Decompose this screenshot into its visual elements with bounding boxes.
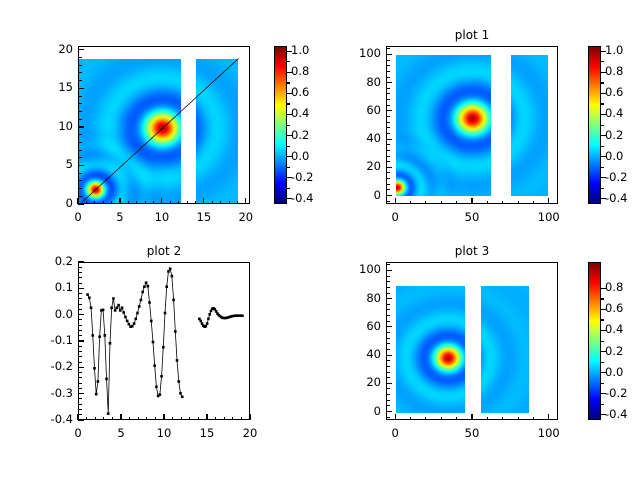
x-tick-label: 20 — [222, 210, 270, 224]
y-tick — [78, 49, 84, 50]
colorbar-minor-tick — [287, 103, 290, 104]
data-point-marker — [102, 309, 105, 312]
x-minor-tick — [155, 417, 156, 421]
data-point-marker — [134, 318, 137, 321]
data-point-marker — [86, 293, 89, 296]
colorbar-tick-label: 0.2 — [291, 128, 309, 142]
y-minor-tick — [386, 405, 390, 406]
data-point-marker — [141, 291, 144, 294]
y-tick-label: 0.2 — [13, 254, 73, 268]
y-minor-tick — [78, 335, 82, 336]
x-minor-tick — [487, 201, 488, 205]
x-minor-tick — [103, 417, 104, 421]
data-point-marker — [205, 325, 208, 328]
y-minor-tick — [386, 99, 390, 100]
data-point-marker — [208, 313, 211, 316]
y-tick-label: 40 — [321, 131, 381, 145]
x-minor-tick — [112, 417, 113, 421]
colorbar-minor-tick — [601, 146, 604, 147]
y-minor-tick — [386, 105, 390, 106]
x-tick-label: 10 — [138, 210, 186, 224]
data-point-marker — [97, 380, 100, 383]
x-tick — [548, 414, 549, 420]
colorbar-tick-label: 0.4 — [605, 322, 623, 336]
x-tick-label: 50 — [448, 426, 496, 440]
colorbar — [274, 46, 287, 204]
colorbar-tick-label: -0.4 — [291, 191, 313, 205]
y-minor-tick — [386, 287, 390, 288]
x-tick — [119, 198, 120, 204]
y-minor-tick — [78, 309, 82, 310]
line-series-group — [79, 263, 250, 420]
colorbar-minor-tick — [287, 188, 290, 189]
y-minor-tick — [78, 65, 82, 66]
x-minor-tick — [145, 201, 146, 205]
heatmap-image — [196, 59, 238, 204]
y-minor-tick — [78, 157, 82, 158]
y-tick — [386, 298, 392, 299]
data-point-marker — [174, 330, 177, 333]
y-minor-tick — [386, 201, 390, 202]
colorbar-gradient — [275, 47, 286, 203]
y-tick-label: 0 — [321, 188, 381, 202]
data-point-marker — [171, 275, 174, 278]
heatmap-image — [79, 59, 181, 204]
data-point-marker — [179, 392, 182, 395]
colorbar-tick-label: 0.2 — [605, 128, 623, 142]
axes-frame-bottom-left — [78, 262, 250, 420]
data-point-marker — [122, 311, 125, 314]
y-tick-label: 20 — [321, 159, 381, 173]
y-tick-label: 0 — [13, 196, 73, 210]
x-minor-tick — [533, 201, 534, 205]
y-minor-tick — [78, 142, 82, 143]
y-minor-tick — [78, 293, 82, 294]
axes-frame-top-left — [78, 46, 250, 204]
y-minor-tick — [386, 65, 390, 66]
data-point-marker — [177, 380, 180, 383]
colorbar-tick-label: 0.6 — [291, 85, 309, 99]
y-minor-tick — [386, 388, 390, 389]
panel-title: plot 2 — [78, 244, 250, 258]
y-minor-tick — [386, 133, 390, 134]
y-tick — [78, 314, 84, 315]
x-minor-tick — [241, 417, 242, 421]
data-point-marker — [124, 316, 127, 319]
data-point-marker — [199, 320, 202, 323]
data-point-marker — [88, 296, 91, 299]
y-tick — [78, 340, 84, 341]
colorbar — [588, 46, 601, 204]
y-tick-label: 0 — [321, 404, 381, 418]
y-tick — [386, 411, 392, 412]
x-minor-tick — [487, 417, 488, 421]
y-minor-tick — [78, 346, 82, 347]
y-minor-tick — [78, 283, 82, 284]
colorbar-minor-tick — [601, 125, 604, 126]
y-minor-tick — [78, 72, 82, 73]
y-tick — [78, 261, 84, 262]
x-minor-tick — [138, 417, 139, 421]
y-minor-tick — [78, 119, 82, 120]
y-tick — [386, 383, 392, 384]
colorbar-gradient — [589, 47, 600, 203]
data-point-marker — [104, 334, 107, 337]
x-minor-tick — [518, 201, 519, 205]
x-minor-tick — [153, 201, 154, 205]
heatmap-image — [396, 286, 465, 413]
colorbar-gradient — [589, 263, 600, 419]
y-tick-label: -0.1 — [13, 333, 73, 347]
colorbar-minor-tick — [601, 383, 604, 384]
y-minor-tick — [386, 349, 390, 350]
data-point-marker — [169, 267, 172, 270]
y-tick-label: 60 — [321, 319, 381, 333]
y-minor-tick — [386, 122, 390, 123]
colorbar-minor-tick — [601, 319, 604, 320]
data-point-marker — [93, 367, 96, 370]
y-minor-tick — [386, 71, 390, 72]
data-point-marker — [112, 297, 115, 300]
y-minor-tick — [386, 88, 390, 89]
y-tick — [386, 139, 392, 140]
x-tick — [163, 414, 164, 420]
x-minor-tick — [172, 417, 173, 421]
y-minor-tick — [78, 196, 82, 197]
data-point-marker — [162, 346, 165, 349]
data-point-marker — [117, 304, 120, 307]
colorbar-minor-tick — [601, 341, 604, 342]
data-point-marker — [143, 285, 146, 288]
y-minor-tick — [386, 321, 390, 322]
x-tick — [203, 198, 204, 204]
axes-frame-bottom-right — [386, 262, 558, 420]
data-point-marker — [107, 412, 110, 415]
y-tick-label: 5 — [13, 157, 73, 171]
data-point-marker — [110, 306, 113, 309]
data-point-marker — [119, 309, 122, 312]
data-point-marker — [91, 334, 94, 337]
y-tick — [78, 203, 84, 204]
data-point-marker — [90, 306, 93, 309]
y-minor-tick — [386, 150, 390, 151]
data-point-marker — [159, 393, 162, 396]
x-tick — [249, 414, 250, 420]
x-tick-label: 100 — [525, 210, 573, 224]
x-tick — [395, 198, 396, 204]
y-tick-label: 20 — [321, 375, 381, 389]
x-tick — [548, 198, 549, 204]
x-minor-tick — [441, 417, 442, 421]
x-minor-tick — [456, 417, 457, 421]
y-tick-label: 100 — [321, 46, 381, 60]
y-tick-label: 15 — [13, 80, 73, 94]
y-tick — [78, 165, 84, 166]
y-minor-tick — [78, 372, 82, 373]
y-tick — [386, 270, 392, 271]
data-point-marker — [181, 395, 184, 398]
x-tick-label: 20 — [226, 426, 274, 440]
colorbar-tick-label: 1.0 — [605, 43, 623, 57]
x-minor-tick — [410, 417, 411, 421]
heatmap-canvas — [481, 286, 529, 413]
y-tick-label: 0.0 — [13, 307, 73, 321]
heatmap-canvas — [196, 59, 238, 204]
x-tick — [120, 414, 121, 420]
data-point-marker — [155, 385, 158, 388]
y-minor-tick — [386, 178, 390, 179]
data-point-marker — [128, 323, 131, 326]
heatmap-canvas — [511, 55, 548, 196]
y-minor-tick — [78, 57, 82, 58]
y-minor-tick — [78, 319, 82, 320]
colorbar-tick-label: 0.0 — [605, 149, 623, 163]
colorbar-minor-tick — [287, 82, 290, 83]
x-minor-tick — [103, 201, 104, 205]
y-minor-tick — [78, 362, 82, 363]
y-minor-tick — [386, 360, 390, 361]
x-minor-tick — [502, 201, 503, 205]
data-point-marker — [105, 378, 108, 381]
y-tick-label: 100 — [321, 262, 381, 276]
x-minor-tick — [410, 201, 411, 205]
y-minor-tick — [386, 93, 390, 94]
y-minor-tick — [386, 60, 390, 61]
x-minor-tick — [86, 201, 87, 205]
x-minor-tick — [146, 417, 147, 421]
y-minor-tick — [78, 150, 82, 151]
y-minor-tick — [386, 144, 390, 145]
y-tick — [386, 110, 392, 111]
y-tick-label: 0.1 — [13, 280, 73, 294]
y-tick-label: 20 — [13, 42, 73, 56]
heatmap-image — [396, 55, 491, 196]
data-point-marker — [172, 299, 175, 302]
data-point-marker — [147, 285, 150, 288]
x-minor-tick — [86, 417, 87, 421]
y-minor-tick — [386, 400, 390, 401]
y-minor-tick — [78, 111, 82, 112]
panel-title: plot 1 — [386, 28, 558, 42]
x-minor-tick — [111, 201, 112, 205]
y-minor-tick — [386, 343, 390, 344]
x-minor-tick — [178, 201, 179, 205]
x-minor-tick — [220, 201, 221, 205]
colorbar-minor-tick — [601, 61, 604, 62]
x-minor-tick — [128, 201, 129, 205]
data-point-marker — [133, 322, 136, 325]
data-point-marker — [109, 342, 112, 345]
y-minor-tick — [386, 127, 390, 128]
x-minor-tick — [215, 417, 216, 421]
data-point-marker — [207, 318, 210, 321]
x-minor-tick — [502, 417, 503, 421]
colorbar-minor-tick — [601, 188, 604, 189]
y-minor-tick — [386, 304, 390, 305]
x-tick-label: 15 — [183, 426, 231, 440]
x-tick-label: 10 — [140, 426, 188, 440]
data-point-marker — [114, 309, 117, 312]
y-tick — [78, 126, 84, 127]
y-minor-tick — [386, 264, 390, 265]
colorbar-minor-tick — [601, 103, 604, 104]
y-minor-tick — [78, 96, 82, 97]
y-minor-tick — [386, 338, 390, 339]
colorbar-minor-tick — [287, 125, 290, 126]
x-minor-tick — [425, 201, 426, 205]
y-minor-tick — [386, 77, 390, 78]
y-minor-tick — [78, 267, 82, 268]
colorbar-tick-label: 0.6 — [605, 301, 623, 315]
y-tick-label: 80 — [321, 291, 381, 305]
colorbar-tick-label: 1.0 — [291, 43, 309, 57]
colorbar-minor-tick — [287, 167, 290, 168]
y-minor-tick — [78, 134, 82, 135]
colorbar-minor-tick — [601, 298, 604, 299]
y-minor-tick — [78, 383, 82, 384]
data-point-marker — [153, 364, 156, 367]
y-minor-tick — [386, 309, 390, 310]
x-tick — [471, 198, 472, 204]
y-minor-tick — [78, 180, 82, 181]
colorbar-minor-tick — [601, 404, 604, 405]
x-minor-tick — [94, 201, 95, 205]
x-tick-label: 0 — [54, 210, 102, 224]
y-minor-tick — [386, 184, 390, 185]
colorbar-minor-tick — [287, 146, 290, 147]
y-minor-tick — [78, 398, 82, 399]
data-point-marker — [95, 393, 98, 396]
y-minor-tick — [386, 156, 390, 157]
x-minor-tick — [229, 201, 230, 205]
y-tick — [386, 82, 392, 83]
data-point-marker — [136, 312, 139, 315]
x-minor-tick — [425, 417, 426, 421]
data-point-marker — [148, 301, 151, 304]
data-point-marker — [145, 281, 148, 284]
y-minor-tick — [386, 372, 390, 373]
colorbar-tick-label: -0.2 — [605, 170, 627, 184]
axes-frame-top-right — [386, 46, 558, 204]
y-minor-tick — [386, 315, 390, 316]
x-tick-label: 15 — [180, 210, 228, 224]
y-tick — [386, 355, 392, 356]
y-minor-tick — [386, 276, 390, 277]
y-tick — [78, 393, 84, 394]
data-point-marker — [140, 299, 143, 302]
x-tick — [245, 198, 246, 204]
x-minor-tick — [232, 417, 233, 421]
x-minor-tick — [181, 417, 182, 421]
y-minor-tick — [78, 351, 82, 352]
y-minor-tick — [386, 48, 390, 49]
x-minor-tick — [224, 417, 225, 421]
data-point-marker — [98, 335, 101, 338]
x-tick-label: 100 — [525, 426, 573, 440]
data-point-marker — [167, 270, 170, 273]
x-minor-tick — [456, 201, 457, 205]
colorbar-tick-label: -0.2 — [291, 170, 313, 184]
data-point-marker — [152, 341, 155, 344]
y-minor-tick — [78, 388, 82, 389]
y-minor-tick — [386, 417, 390, 418]
data-point-marker — [131, 325, 134, 328]
colorbar-minor-tick — [601, 362, 604, 363]
x-tick — [471, 414, 472, 420]
x-minor-tick — [195, 201, 196, 205]
colorbar-tick-label: 0.4 — [291, 106, 309, 120]
heatmap-image — [511, 55, 548, 196]
data-point-marker — [206, 322, 209, 325]
y-tick-label: -0.4 — [13, 412, 73, 426]
y-minor-tick — [78, 414, 82, 415]
colorbar-tick-label: -0.4 — [605, 407, 627, 421]
y-minor-tick — [78, 188, 82, 189]
x-minor-tick — [187, 201, 188, 205]
data-point-marker — [160, 375, 163, 378]
x-minor-tick — [136, 201, 137, 205]
y-tick-label: 60 — [321, 103, 381, 117]
colorbar-tick-label: 0.8 — [605, 64, 623, 78]
y-tick-label: 80 — [321, 75, 381, 89]
x-tick — [161, 198, 162, 204]
data-point-marker — [176, 359, 179, 362]
y-tick — [386, 54, 392, 55]
y-tick-label: -0.2 — [13, 359, 73, 373]
y-tick — [386, 195, 392, 196]
y-minor-tick — [386, 377, 390, 378]
data-point-marker — [150, 320, 153, 323]
line-path — [88, 269, 183, 414]
y-minor-tick — [386, 161, 390, 162]
x-minor-tick — [212, 201, 213, 205]
colorbar-tick-label: 0.8 — [291, 64, 309, 78]
y-tick — [78, 419, 84, 420]
y-minor-tick — [78, 173, 82, 174]
x-tick-label: 0 — [371, 426, 419, 440]
y-tick-label: -0.3 — [13, 386, 73, 400]
colorbar-tick-label: 0.2 — [605, 344, 623, 358]
x-tick — [206, 414, 207, 420]
y-minor-tick — [386, 366, 390, 367]
y-minor-tick — [386, 281, 390, 282]
colorbar-minor-tick — [601, 82, 604, 83]
y-tick-label: 10 — [13, 119, 73, 133]
colorbar-tick-label: 0.8 — [605, 280, 623, 294]
y-minor-tick — [386, 332, 390, 333]
data-point-marker — [165, 285, 168, 288]
x-minor-tick — [533, 417, 534, 421]
y-tick — [386, 326, 392, 327]
x-tick-label: 50 — [448, 210, 496, 224]
x-minor-tick — [441, 201, 442, 205]
heatmap-canvas — [79, 59, 181, 204]
data-point-marker — [121, 306, 124, 309]
y-minor-tick — [78, 325, 82, 326]
heatmap-image — [481, 286, 529, 413]
y-minor-tick — [78, 277, 82, 278]
colorbar-minor-tick — [601, 167, 604, 168]
x-minor-tick — [129, 417, 130, 421]
panel-title: plot 3 — [386, 244, 558, 258]
y-minor-tick — [78, 330, 82, 331]
x-minor-tick — [170, 201, 171, 205]
y-minor-tick — [386, 293, 390, 294]
y-tick — [78, 288, 84, 289]
x-tick-label: 0 — [371, 210, 419, 224]
y-minor-tick — [78, 377, 82, 378]
colorbar-tick-label: 0.6 — [605, 85, 623, 99]
